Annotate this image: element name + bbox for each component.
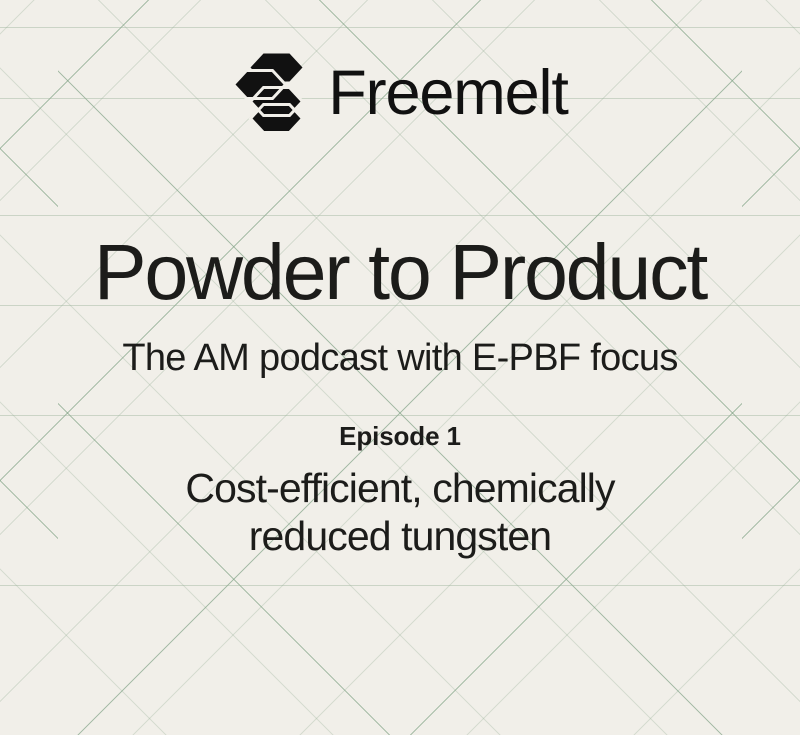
show-tagline: The AM podcast with E-PBF focus: [0, 339, 800, 377]
brand-wordmark: Freemelt: [328, 62, 567, 125]
episode-number-label: Episode 1: [0, 423, 800, 449]
episode-title-line-2: reduced tungsten: [0, 513, 800, 561]
freemelt-hexagon-logo-icon: [232, 52, 306, 134]
episode-title: Cost-efficient, chemically reduced tungs…: [0, 465, 800, 560]
podcast-episode-poster: Freemelt Powder to Product The AM podcas…: [0, 0, 800, 735]
show-title: Powder to Product: [0, 232, 800, 311]
horizontal-rule: [0, 585, 800, 586]
brand-lockup: Freemelt: [0, 52, 800, 134]
episode-title-line-1: Cost-efficient, chemically: [0, 465, 800, 513]
horizontal-rule: [0, 215, 800, 216]
horizontal-rule: [0, 27, 800, 28]
poster-content: Powder to Product The AM podcast with E-…: [0, 232, 800, 560]
